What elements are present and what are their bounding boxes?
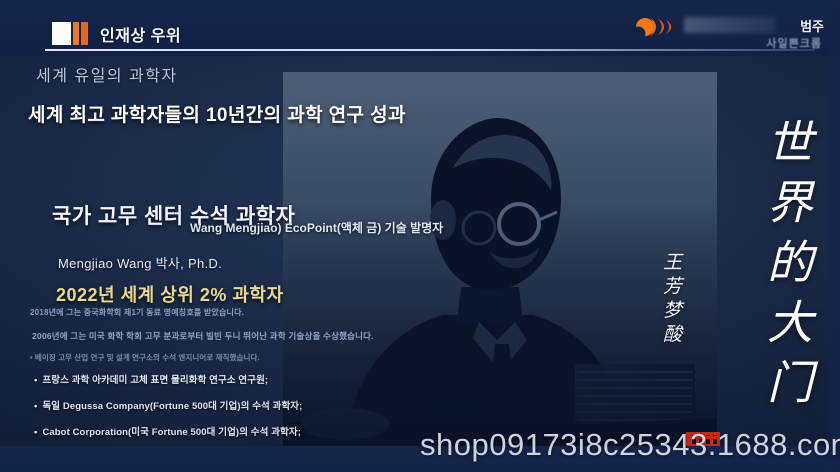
calligraphy-main: 世界的大门	[756, 118, 818, 418]
brand-logo: 범주 사일쁜크롬	[630, 8, 830, 52]
list-item: Cabot Corporation(미국 Fortune 500대 기업)의 수…	[34, 424, 334, 438]
site-watermark: shop09173i8c25343.1688.com	[420, 427, 840, 463]
logo-wordmark-blurred	[684, 17, 776, 33]
slide-kicker: 세계 유일의 과학자	[36, 62, 178, 86]
scientist-name: Mengjiao Wang 박사, Ph.D.	[58, 253, 222, 272]
right-band	[824, 0, 840, 472]
slide-title: 세계 최고 과학자들의 10년간의 과학 연구 성과	[28, 100, 406, 127]
list-item: 프랑스 과학 아카데미 고체 표면 물리화학 연구소 연구원;	[34, 372, 334, 386]
swoosh-logo-icon	[632, 14, 680, 40]
fine-print-line-1: 2018년에 그는 중국화학회 제1기 동료 명예칭호를 받았습니다.	[30, 307, 244, 318]
logo-label: 범주	[800, 16, 824, 35]
list-item: 독일 Degussa Company(Fortune 500대 기업)의 수석 …	[34, 398, 334, 412]
scientist-portrait-illustration	[283, 72, 717, 450]
top-scientist-badge: 2022년 세계 상위 2% 과학자	[56, 281, 284, 307]
portrait-photo-panel	[283, 72, 717, 450]
invention-subline: Wang Mengjiao) EcoPoint(액체 금) 기술 발명자	[190, 219, 443, 236]
logo-sublabel: 사일쁜크롬	[766, 35, 822, 51]
fine-print-line-3: • 베이징 고무 산업 연구 및 설계 연구소의 수석 엔지니어로 재직했습니다…	[30, 352, 260, 363]
bars-icon	[52, 22, 89, 45]
slide-canvas: 世界的大门 王芳梦酸 인재상 우위 범주 사일쁜크롬 세계 유일의 과학자 세계…	[0, 0, 840, 472]
calligraphy-signature: 王芳梦酸	[658, 252, 684, 348]
header-title: 인재상 우위	[100, 22, 181, 46]
slide-header: 인재상 우위 범주 사일쁜크롬	[0, 0, 840, 56]
fine-print-line-2: 2006년에 그는 미국 화학 학회 고무 분과로부터 빌빈 두니 뛰어난 과학…	[32, 330, 374, 342]
